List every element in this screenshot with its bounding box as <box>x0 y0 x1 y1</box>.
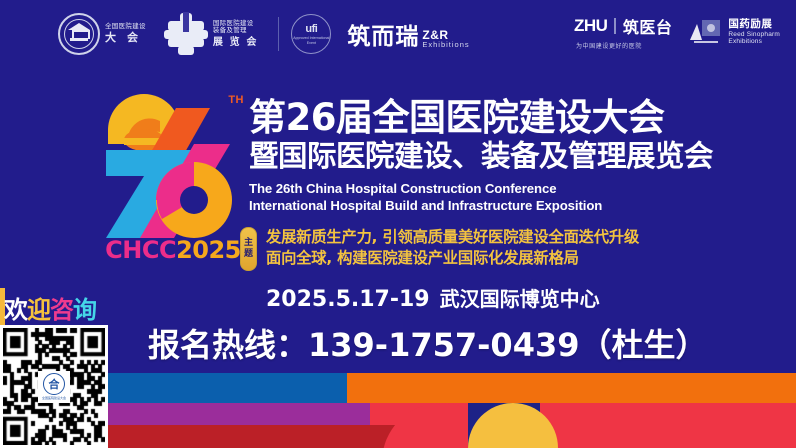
event-venue: 武汉国际博览中心 <box>440 287 600 311</box>
qr-title-char-2: 迎 <box>27 296 50 324</box>
theme-row: 主 题 发展新质生产力, 引领高质量美好医院建设全面迭代升级 面向全球, 构建医… <box>240 227 639 271</box>
ufi-sub-text: Approved International Event <box>292 36 330 45</box>
conference-logo-line1: 全国医院建设 <box>105 23 146 30</box>
logo-exhibition: 国际医院建设 装备及管理 展 览 会 <box>164 12 259 56</box>
qr-title-char-3: 咨 <box>50 296 73 324</box>
theme-line-2: 面向全球, 构建医院建设产业国际化发展新格局 <box>266 248 639 269</box>
chcc-26-logo: TH CHCC2025 <box>98 88 248 268</box>
qr-panel[interactable]: 欢迎咨询 合 全国医院建设大会 <box>0 288 108 448</box>
decor-gold-circle <box>468 403 558 448</box>
zhu-mark-text: ZHU <box>574 16 607 36</box>
header-divider <box>278 17 279 51</box>
theme-line-1: 发展新质生产力, 引领高质量美好医院建设全面迭代升级 <box>266 227 639 248</box>
zhu-chinese-name: 筑医台 <box>623 14 673 38</box>
header-right-logos: ZHU 筑医台 为中国建设更好的医院 国药励展 Reed Sinopharm E… <box>574 14 780 50</box>
band-orange <box>347 373 796 403</box>
main-title-en-line1: The 26th China Hospital Construction Con… <box>249 181 709 198</box>
chcc-wordmark: CHCC2025 <box>98 236 248 264</box>
reed-chinese-name: 国药励展 <box>728 18 780 31</box>
registration-hotline: 报名热线：139-1757-0439（杜生） <box>148 320 708 366</box>
zhu-divider <box>614 18 616 34</box>
conference-logo-line2: 大 会 <box>105 32 146 45</box>
exhibition-logo-line1b: 装备及管理 <box>213 27 259 34</box>
ufi-approved-icon: ufi Approved International Event <box>291 14 331 54</box>
conference-emblem-icon <box>58 13 100 55</box>
logo-reed-sinopharm: 国药励展 Reed Sinopharm Exhibitions <box>688 18 780 46</box>
event-date-venue: 2025.5.17-19武汉国际博览中心 <box>266 283 600 312</box>
qr-center-caption: 全国医院建设大会 <box>42 396 66 400</box>
logo-chcc-conference: 全国医院建设 大 会 <box>58 13 146 55</box>
zhu-slogan: 为中国建设更好的医院 <box>574 41 642 50</box>
reed-en-line1: Reed Sinopharm <box>728 31 780 39</box>
ufi-group: ufi Approved International Event <box>278 14 331 54</box>
theme-badge-char-1: 主 <box>244 239 253 248</box>
zr-en-word: Exhibitions <box>422 41 469 49</box>
qr-title-char-4: 询 <box>73 296 96 324</box>
theme-badge: 主 题 <box>240 227 257 271</box>
qr-center-logo: 合 全国医院建设大会 <box>38 371 70 403</box>
main-title-cn-line2: 暨国际医院建设、装备及管理展览会 <box>249 140 709 174</box>
logo-zhu-yi-tai: ZHU 筑医台 为中国建设更好的医院 <box>574 14 672 50</box>
title-block: 第26届全国医院建设大会 暨国际医院建设、装备及管理展览会 The 26th C… <box>249 98 709 214</box>
qr-center-glyph: 合 <box>43 373 65 395</box>
event-date: 2025.5.17-19 <box>266 287 430 312</box>
chcc-wordmark-letters: CHCC <box>105 236 176 264</box>
decor-gold-quarter-clip <box>468 403 558 448</box>
logo-zr-exhibitions: 筑而瑞 Z&R Exhibitions <box>347 17 469 51</box>
header-left-logos: 全国医院建设 大 会 国际医院建设 装备及管理 展 览 会 <box>58 12 470 56</box>
reed-sinopharm-icon <box>688 18 722 46</box>
qr-panel-title: 欢迎咨询 <box>4 290 108 324</box>
reed-en-line2: Exhibitions <box>728 38 780 46</box>
ordinal-suffix-th: TH <box>228 94 244 106</box>
zr-chinese-name: 筑而瑞 <box>347 17 419 51</box>
exhibition-logo-line2: 展 览 会 <box>213 37 259 49</box>
main-title-cn-line1: 第26届全国医院建设大会 <box>249 98 709 138</box>
snowflake-emblem-icon <box>164 12 208 56</box>
theme-badge-char-2: 题 <box>244 250 253 259</box>
main-title-en-line2: International Hospital Build and Infrast… <box>249 198 709 215</box>
header-bar: 全国医院建设 大 会 国际医院建设 装备及管理 展 览 会 <box>0 0 796 70</box>
ufi-mark-text: ufi <box>305 23 317 35</box>
qr-title-char-1: 欢 <box>4 296 27 324</box>
chcc-wordmark-year: 2025 <box>176 236 241 264</box>
number-26-graphic <box>98 88 248 238</box>
qr-code-box[interactable]: 合 全国医院建设大会 <box>0 325 108 448</box>
bottom-color-bands <box>0 365 796 448</box>
poster-canvas: 全国医院建设 大 会 国际医院建设 装备及管理 展 览 会 <box>0 0 796 448</box>
